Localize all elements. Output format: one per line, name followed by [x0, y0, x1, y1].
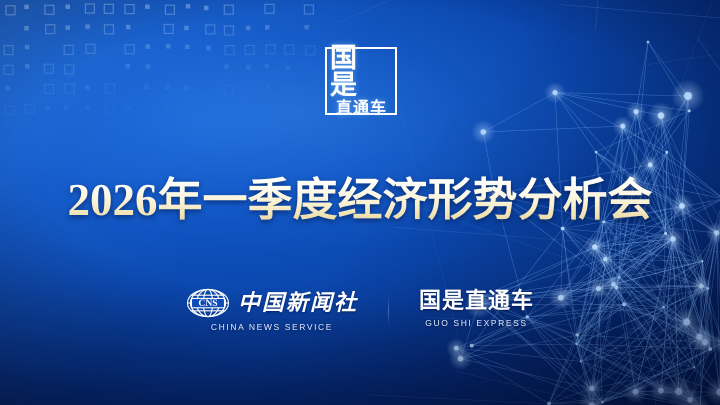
brand-divider	[388, 296, 389, 326]
cns-globe-icon: CNS	[186, 288, 230, 318]
title-card: 国 是 直通车 2026年一季度经济形势分析会	[0, 0, 720, 405]
square-mosaic-motif	[0, 0, 330, 130]
brand-unit-guo-shi-express: 国是直通车 GUO SHI EXPRESS	[419, 288, 534, 329]
brand-row: CNS 中国新闻社	[186, 288, 358, 318]
logo-top-text: 国 是	[327, 45, 395, 99]
branding-bar: CNS 中国新闻社 CHINA NEWS SERVICE 国是直通车 GUO S…	[0, 288, 720, 333]
logo-bottom-text: 直通车	[335, 101, 387, 117]
brand-name-cn: 国是直通车	[419, 288, 534, 314]
brand-name-cn: 中国新闻社	[238, 290, 358, 316]
brand-name-en: CHINA NEWS SERVICE	[211, 321, 333, 333]
brand-unit-china-news-service: CNS 中国新闻社 CHINA NEWS SERVICE	[186, 288, 358, 333]
guo-shi-express-logo: 国 是 直通车	[325, 47, 397, 115]
brand-name-en: GUO SHI EXPRESS	[425, 317, 527, 329]
page-title: 2026年一季度经济形势分析会	[0, 172, 720, 228]
brand-row: 国是直通车	[419, 288, 534, 314]
cns-monogram: CNS	[198, 298, 217, 309]
